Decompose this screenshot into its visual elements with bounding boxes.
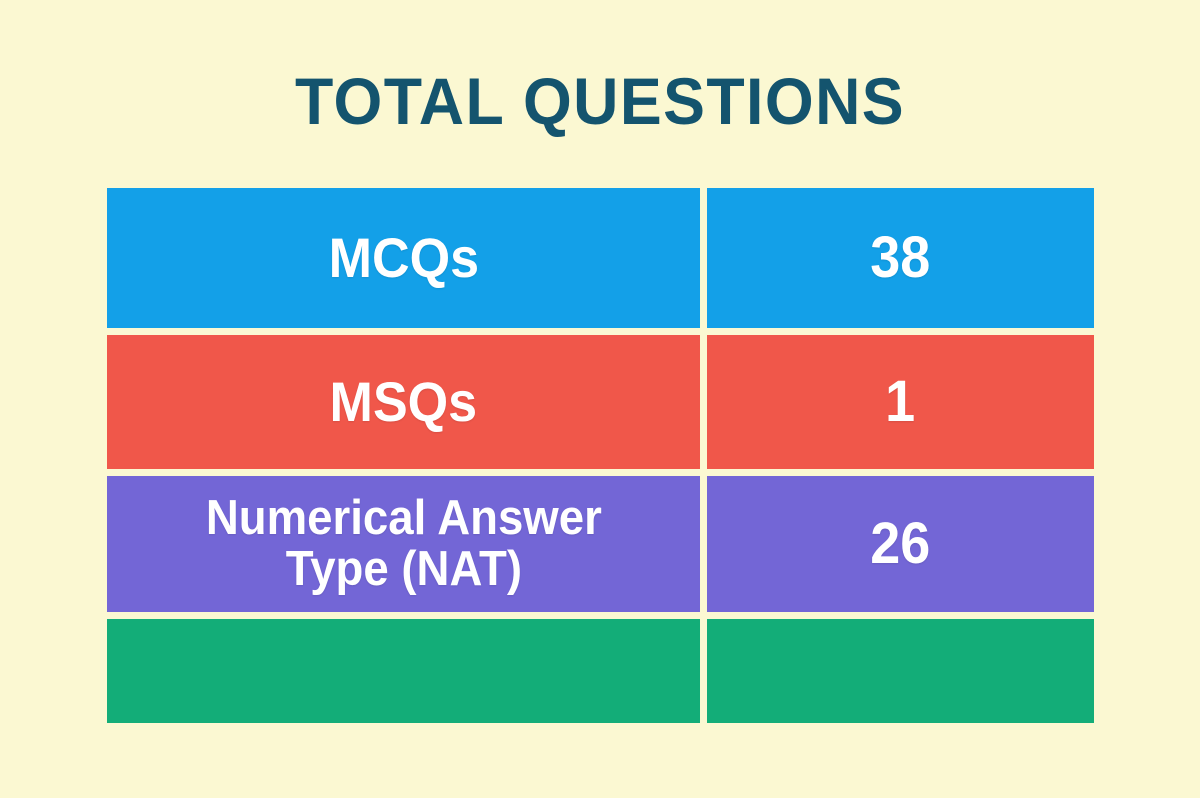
table-row: [107, 619, 1094, 723]
table-cell-label-text: MCQs: [328, 229, 478, 286]
table-cell-value-text: 26: [870, 515, 930, 573]
table-cell-label: MSQs: [107, 335, 700, 469]
table-cell-label-text: Numerical AnswerType (NAT): [206, 493, 602, 596]
table-cell-value-text: 1: [885, 373, 915, 431]
table-cell-value: 1: [707, 335, 1094, 469]
table-cell-label-text: MSQs: [330, 373, 478, 430]
table-cell-value-text: 38: [870, 229, 930, 287]
table-row: Numerical AnswerType (NAT) 26: [107, 476, 1094, 612]
table-cell-label-line-1: Numerical Answer: [206, 491, 602, 545]
table-cell-value: 26: [707, 476, 1094, 612]
table-cell-label: [107, 619, 700, 723]
table-cell-value: [707, 619, 1094, 723]
table-row: MCQs 38: [107, 188, 1094, 328]
table-cell-label: MCQs: [107, 188, 700, 328]
poster-root: TOTAL QUESTIONS MCQs 38 MSQs 1 Numerical…: [0, 0, 1200, 798]
table-cell-label: Numerical AnswerType (NAT): [107, 476, 700, 612]
questions-table: MCQs 38 MSQs 1 Numerical AnswerType (NAT…: [107, 188, 1094, 723]
table-cell-label-line-2: Type (NAT): [285, 542, 521, 596]
page-title: TOTAL QUESTIONS: [30, 62, 1170, 140]
table-row: MSQs 1: [107, 335, 1094, 469]
table-cell-value: 38: [707, 188, 1094, 328]
